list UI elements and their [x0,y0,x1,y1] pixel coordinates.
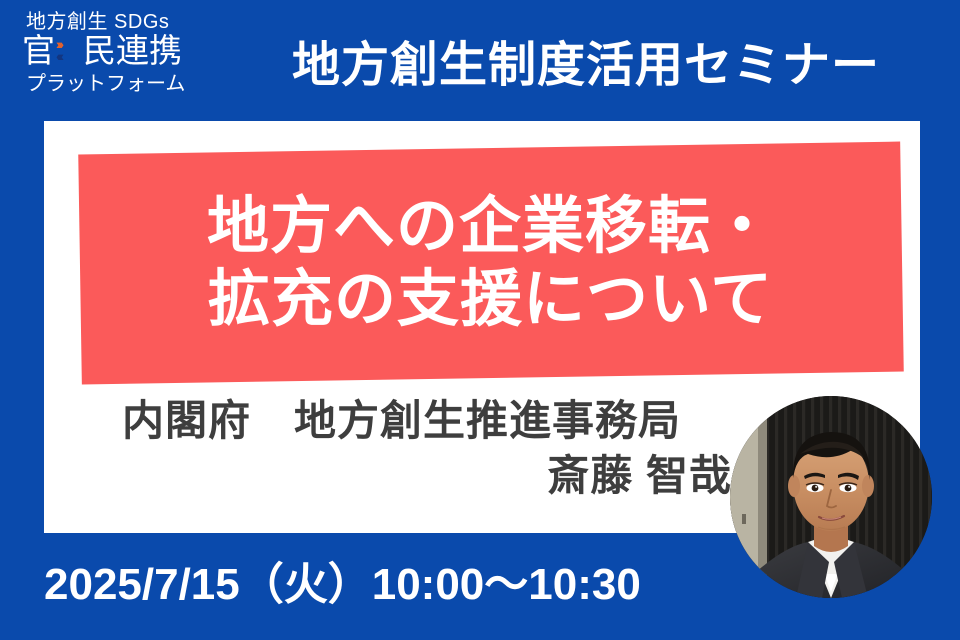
logo-kanji-minrenkei: 民連携 [83,34,182,67]
speaker-organization: 内閣府 地方創生推進事務局 [84,393,744,448]
logo-line-kanmin: 官 ››› ‹‹‹ 民連携 [22,34,182,67]
main-title-text: 地方への企業移転・ 拡充の支援について [207,190,774,336]
main-title-banner: 地方への企業移転・ 拡充の支援について [78,142,904,385]
seminar-title-slide: 地方創生 SDGs 官 ››› ‹‹‹ 民連携 プラットフォーム 地方創生制度活… [0,0,960,640]
speaker-name: 斎藤 智哉 [84,448,744,503]
portrait-image [730,396,932,598]
logo-line-sdgs: 地方創生 SDGs [26,12,169,32]
logo-chevrons-icon: ››› ‹‹‹ [56,39,82,63]
logo-line-platform: プラットフォーム [26,74,185,94]
logo-kanji-kan: 官 [22,34,55,67]
main-title-line-2: 拡充の支援について [207,263,774,336]
speaker-portrait [730,396,932,598]
platform-logo: 地方創生 SDGs 官 ››› ‹‹‹ 民連携 プラットフォーム [22,10,204,102]
seminar-header-title: 地方創生制度活用セミナー [236,25,936,95]
chevrons-left-icon: ‹‹‹ [56,51,82,63]
seminar-datetime: 2025/7/15（火）10:00〜10:30 [44,548,641,612]
main-title-line-1: 地方への企業移転・ [207,190,774,263]
speaker-block: 内閣府 地方創生推進事務局 斎藤 智哉 [84,393,744,504]
